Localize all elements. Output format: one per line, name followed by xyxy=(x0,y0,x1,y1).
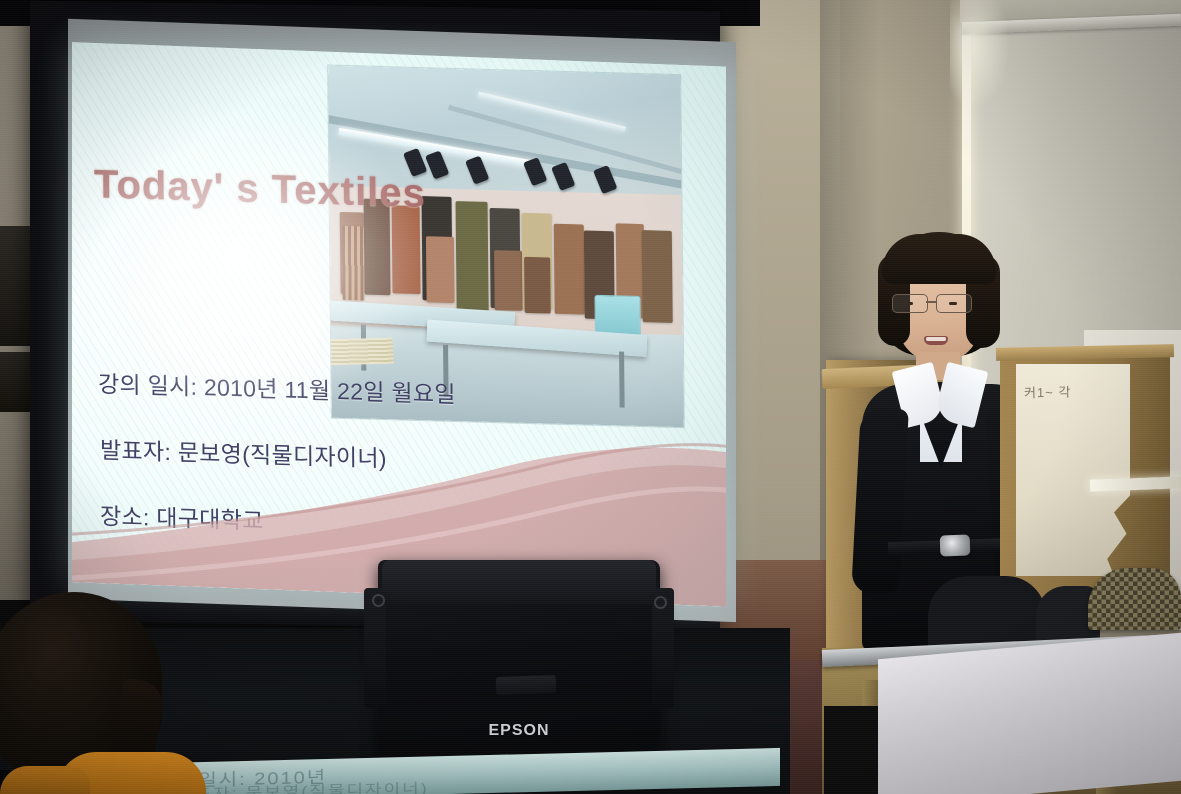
presenter-teeth xyxy=(926,337,946,341)
bag-strap-ring xyxy=(654,596,667,609)
left-dark-object-lower xyxy=(0,352,30,412)
photo-fabric-swatch xyxy=(642,230,673,323)
presenter-hair-fringe xyxy=(882,234,996,284)
glasses-icon xyxy=(892,294,988,312)
window-glow xyxy=(950,0,1010,110)
lecture-room-scene: Today' s Textiles 강의 일시: 2010년 11월 22일 월… xyxy=(0,0,1181,794)
projected-slide: Today' s Textiles 강의 일시: 2010년 11월 22일 월… xyxy=(72,42,726,607)
houndstooth-coat-on-chair xyxy=(1088,568,1181,630)
bag-strap-ring xyxy=(372,594,385,607)
belt-buckle xyxy=(940,534,971,556)
right-desk-top xyxy=(878,633,1181,794)
photo-table-leg xyxy=(619,351,625,407)
photo-fabric-swatch-striped xyxy=(342,226,365,301)
audience-shoulder-orange-left xyxy=(0,766,90,794)
photo-fabric-swatch xyxy=(456,201,489,312)
epson-projector-bag[interactable]: EPSON xyxy=(378,560,660,772)
photo-fabric-swatch xyxy=(524,257,551,314)
glasses-right-lens xyxy=(936,294,972,313)
slide-line-presenter: 발표자: 문보영(직물디자이너) xyxy=(100,431,568,479)
slide-line-venue: 장소: 대구대학교 xyxy=(100,497,568,545)
paper-handwriting: 커1~ 각 xyxy=(1024,382,1072,402)
epson-brand-label: EPSON xyxy=(378,722,660,740)
glasses-left-lens xyxy=(892,294,928,313)
presenter-eye-left xyxy=(905,302,913,305)
photo-fabric-swatch xyxy=(392,205,421,294)
photo-folded-fabric-stack xyxy=(328,338,394,366)
presenter-arm-left xyxy=(851,407,909,595)
slide-body-text: 강의 일시: 2010년 11월 22일 월요일 발표자: 문보영(직물디자이너… xyxy=(98,363,568,579)
photo-fabric-swatch xyxy=(494,250,523,311)
photo-fabric-swatch xyxy=(554,224,585,315)
projection-screen-frame: Today' s Textiles 강의 일시: 2010년 11월 22일 월… xyxy=(30,1,720,632)
glasses-bridge xyxy=(926,301,936,303)
slide-title: Today' s Textiles xyxy=(94,162,426,217)
bag-front-pocket xyxy=(496,675,557,695)
presenter-eye-right xyxy=(949,302,957,305)
photo-fabric-swatch xyxy=(426,236,455,303)
bag-flap[interactable] xyxy=(382,560,656,604)
left-dark-object xyxy=(0,226,32,346)
